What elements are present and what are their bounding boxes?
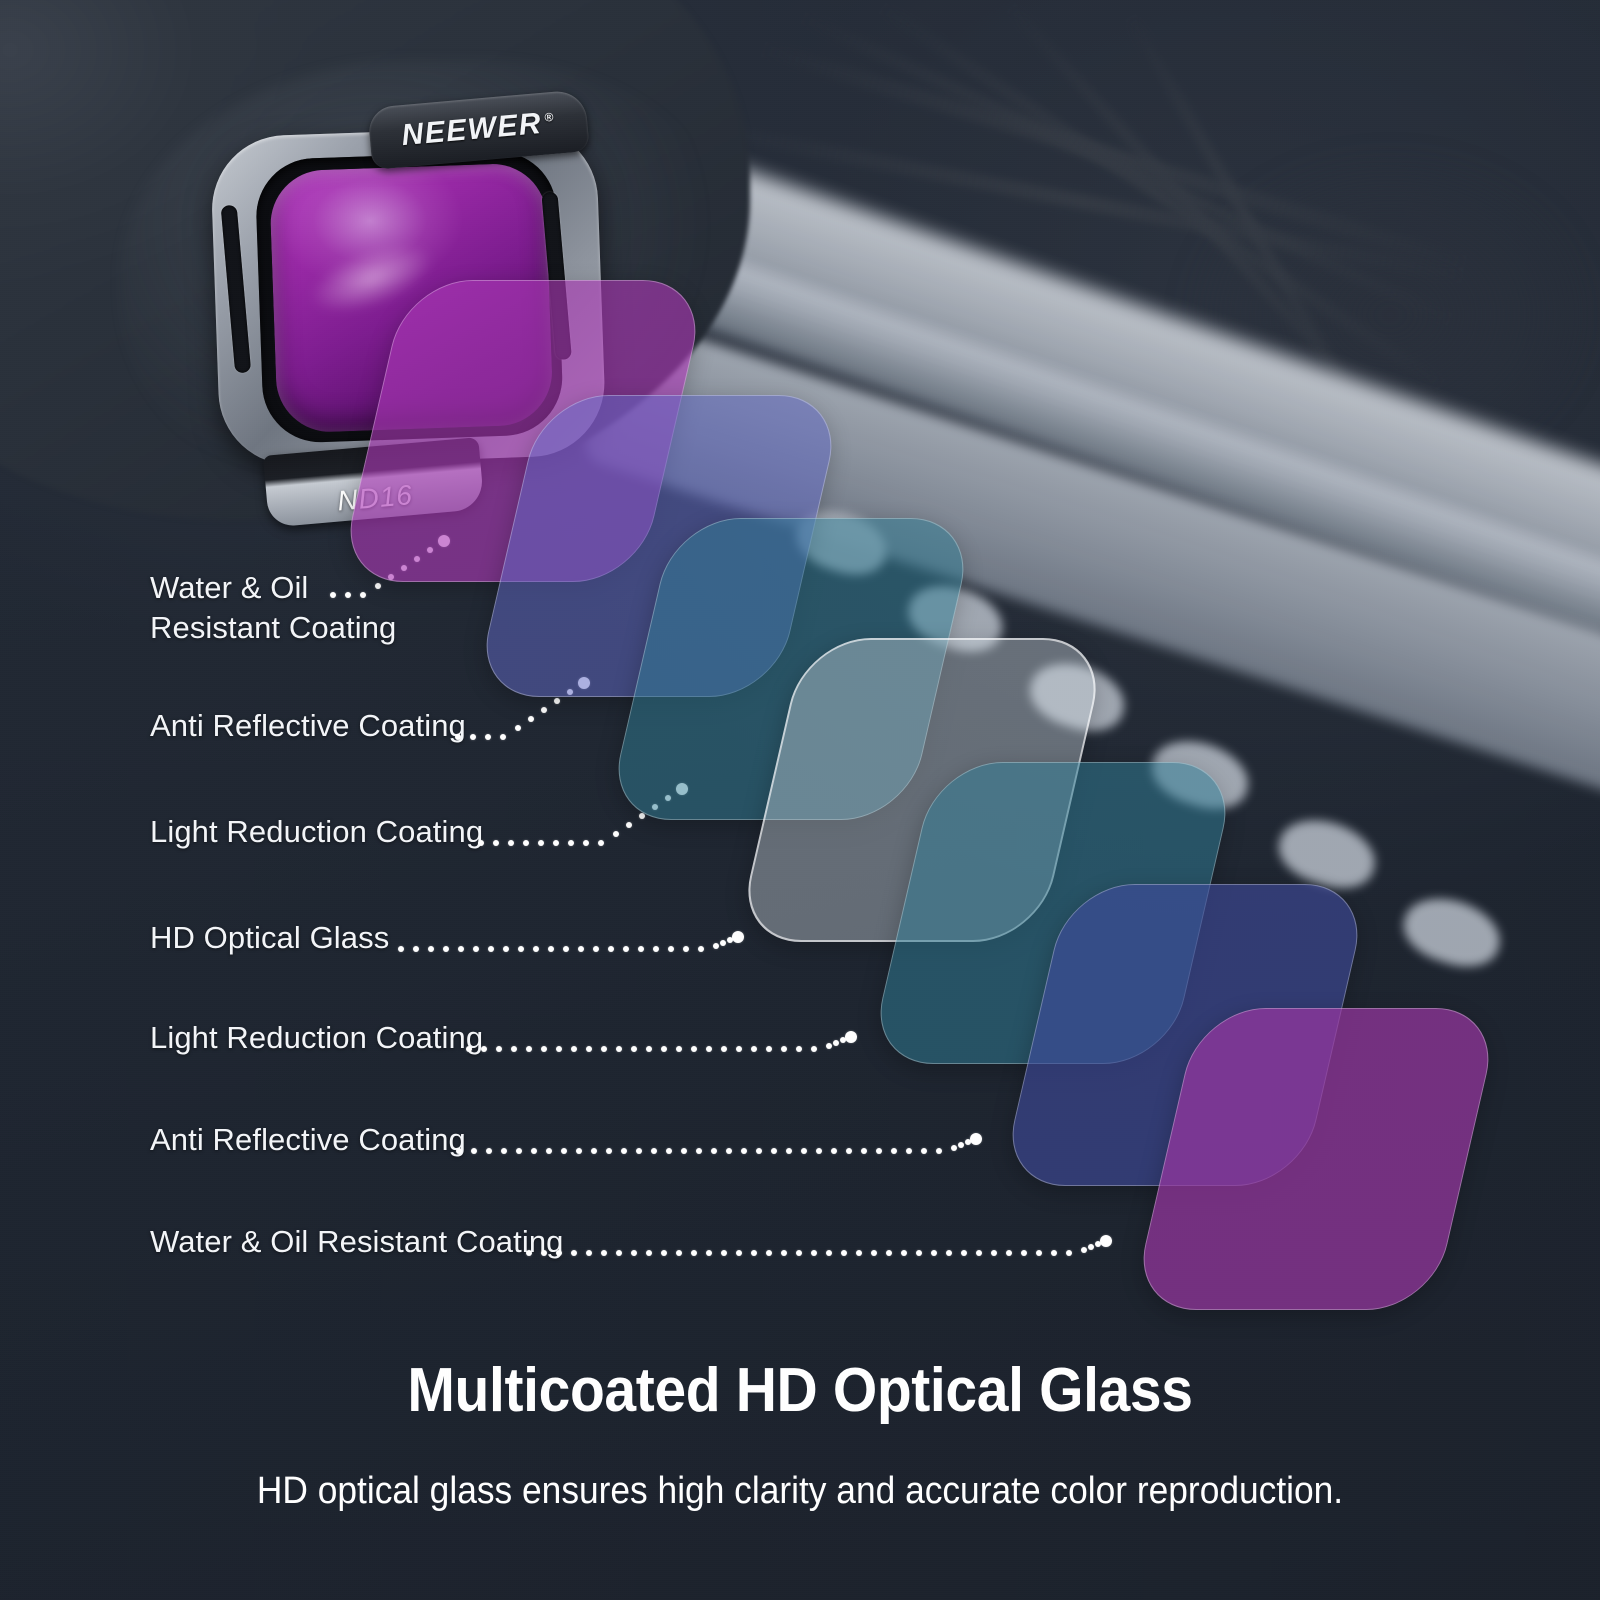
leader-dot bbox=[345, 592, 351, 598]
leader-dot bbox=[781, 1250, 787, 1256]
leader-dot bbox=[591, 1148, 597, 1154]
leader-dot bbox=[901, 1250, 907, 1256]
leader-dot bbox=[568, 840, 574, 846]
leader-dot bbox=[455, 734, 461, 740]
leader-dot bbox=[661, 1250, 667, 1256]
leader-dot bbox=[721, 1250, 727, 1256]
leader-dot bbox=[613, 831, 619, 837]
leader-dot bbox=[528, 716, 534, 722]
leader-dot bbox=[736, 1250, 742, 1256]
leader-dot bbox=[713, 943, 719, 949]
leader-dot bbox=[375, 583, 381, 589]
leader-dot bbox=[676, 1250, 682, 1256]
leader-dot bbox=[698, 946, 704, 952]
coating-label: Light Reduction Coating bbox=[150, 812, 483, 852]
leader-endpoint-dot bbox=[1100, 1235, 1112, 1247]
leader-line bbox=[330, 582, 442, 592]
leader-dot bbox=[786, 1148, 792, 1154]
leader-dot bbox=[653, 946, 659, 952]
leader-dot bbox=[766, 1250, 772, 1256]
leader-dot bbox=[976, 1250, 982, 1256]
leader-dot bbox=[496, 1046, 502, 1052]
leader-dot bbox=[668, 946, 674, 952]
leader-line bbox=[466, 1036, 888, 1046]
leader-dot bbox=[936, 1148, 942, 1154]
leader-dot bbox=[876, 1148, 882, 1154]
leader-dot bbox=[470, 734, 476, 740]
leader-dot bbox=[961, 1250, 967, 1256]
leader-endpoint-dot bbox=[845, 1031, 857, 1043]
leader-dot bbox=[1081, 1247, 1087, 1253]
leader-dot bbox=[541, 707, 547, 713]
leader-dot bbox=[816, 1148, 822, 1154]
leader-dot bbox=[556, 1046, 562, 1052]
page-subtitle: HD optical glass ensures high clarity an… bbox=[56, 1470, 1544, 1513]
leader-dot bbox=[683, 946, 689, 952]
leader-dot bbox=[1036, 1250, 1042, 1256]
leader-dot bbox=[1088, 1244, 1094, 1250]
leader-dot bbox=[651, 1148, 657, 1154]
leader-dot bbox=[516, 1148, 522, 1154]
coating-label: Water & Oil Resistant Coating bbox=[150, 568, 396, 649]
leader-dot bbox=[511, 1046, 517, 1052]
leader-dot bbox=[541, 1046, 547, 1052]
leader-dot bbox=[646, 1046, 652, 1052]
leader-line bbox=[398, 936, 776, 946]
leader-dot bbox=[833, 1040, 839, 1046]
leader-dot bbox=[471, 1148, 477, 1154]
leader-dot bbox=[493, 840, 499, 846]
leader-dot bbox=[583, 840, 589, 846]
leader-dot bbox=[666, 1148, 672, 1154]
leader-dot bbox=[931, 1250, 937, 1256]
leader-dot bbox=[623, 946, 629, 952]
leader-dot bbox=[891, 1148, 897, 1154]
leader-dot bbox=[571, 1046, 577, 1052]
leader-dot bbox=[751, 1046, 757, 1052]
leader-dot bbox=[756, 1148, 762, 1154]
leader-dot bbox=[501, 1148, 507, 1154]
leader-dot bbox=[991, 1250, 997, 1256]
coating-label: Anti Reflective Coating bbox=[150, 706, 466, 746]
leader-dot bbox=[856, 1250, 862, 1256]
leader-dot bbox=[616, 1250, 622, 1256]
leader-dot bbox=[631, 1250, 637, 1256]
leader-dot bbox=[360, 592, 366, 598]
leader-dot bbox=[508, 840, 514, 846]
leader-dot bbox=[546, 1148, 552, 1154]
leader-dot bbox=[500, 734, 506, 740]
leader-dot bbox=[330, 592, 336, 598]
leader-dot bbox=[721, 1046, 727, 1052]
leader-dot bbox=[413, 946, 419, 952]
leader-dot bbox=[466, 1046, 472, 1052]
leader-dot bbox=[861, 1148, 867, 1154]
leader-dot bbox=[831, 1148, 837, 1154]
leader-dot bbox=[638, 946, 644, 952]
leader-dot bbox=[526, 1046, 532, 1052]
leader-dot bbox=[398, 946, 404, 952]
leader-dot bbox=[646, 1250, 652, 1256]
leader-dot bbox=[681, 1148, 687, 1154]
leader-dot bbox=[481, 1046, 487, 1052]
leader-dot bbox=[515, 725, 521, 731]
leader-line bbox=[526, 1240, 1138, 1250]
leader-dot bbox=[886, 1250, 892, 1256]
leader-dot bbox=[711, 1148, 717, 1154]
leader-dot bbox=[636, 1148, 642, 1154]
leader-endpoint-dot bbox=[970, 1133, 982, 1145]
page-title: Multicoated HD Optical Glass bbox=[64, 1355, 1536, 1426]
leader-dot bbox=[593, 946, 599, 952]
leader-dot bbox=[523, 840, 529, 846]
leader-dot bbox=[1051, 1250, 1057, 1256]
leader-line bbox=[455, 724, 570, 734]
infographic-canvas: NEEWER® ND16 Water & Oil Resistant Coati… bbox=[0, 0, 1600, 1600]
leader-dot bbox=[538, 840, 544, 846]
leader-dot bbox=[691, 1046, 697, 1052]
leader-dot bbox=[533, 946, 539, 952]
leader-dot bbox=[478, 840, 484, 846]
leader-dot bbox=[586, 1250, 592, 1256]
coating-label: Anti Reflective Coating bbox=[150, 1120, 466, 1160]
leader-dot bbox=[741, 1148, 747, 1154]
leader-dot bbox=[488, 946, 494, 952]
leader-dot bbox=[720, 940, 726, 946]
leader-line bbox=[478, 830, 673, 840]
leader-dot bbox=[796, 1046, 802, 1052]
leader-dot bbox=[531, 1148, 537, 1154]
leader-dot bbox=[485, 734, 491, 740]
leader-dot bbox=[601, 1250, 607, 1256]
leader-dot bbox=[846, 1148, 852, 1154]
leader-dot bbox=[706, 1250, 712, 1256]
leader-dot bbox=[621, 1148, 627, 1154]
leader-dot bbox=[631, 1046, 637, 1052]
leader-dot bbox=[556, 1250, 562, 1256]
leader-dot bbox=[576, 1148, 582, 1154]
leader-dot bbox=[571, 1250, 577, 1256]
leader-dot bbox=[598, 840, 604, 846]
leader-dot bbox=[1006, 1250, 1012, 1256]
leader-dot bbox=[443, 946, 449, 952]
leader-dot bbox=[578, 946, 584, 952]
leader-dot bbox=[751, 1250, 757, 1256]
leader-endpoint-dot bbox=[732, 931, 744, 943]
coating-label: HD Optical Glass bbox=[150, 918, 389, 958]
leader-dot bbox=[801, 1148, 807, 1154]
coating-label: Light Reduction Coating bbox=[150, 1018, 483, 1058]
leader-dot bbox=[946, 1250, 952, 1256]
leader-dot bbox=[473, 946, 479, 952]
leader-dot bbox=[553, 840, 559, 846]
leader-dot bbox=[554, 698, 560, 704]
leader-dot bbox=[871, 1250, 877, 1256]
leader-dot bbox=[606, 1148, 612, 1154]
leader-dot bbox=[428, 946, 434, 952]
leader-dot bbox=[626, 822, 632, 828]
leader-dot bbox=[548, 946, 554, 952]
leader-dot bbox=[661, 1046, 667, 1052]
leader-dot bbox=[691, 1250, 697, 1256]
leader-dot bbox=[563, 946, 569, 952]
leader-dot bbox=[958, 1142, 964, 1148]
leader-dot bbox=[561, 1148, 567, 1154]
leader-dot bbox=[951, 1145, 957, 1151]
leader-dot bbox=[676, 1046, 682, 1052]
leader-dot bbox=[1066, 1250, 1072, 1256]
leader-dot bbox=[706, 1046, 712, 1052]
leader-dot bbox=[736, 1046, 742, 1052]
leader-dot bbox=[916, 1250, 922, 1256]
leader-dot bbox=[456, 1148, 462, 1154]
leader-dot bbox=[586, 1046, 592, 1052]
leader-dot bbox=[526, 1250, 532, 1256]
leader-dot bbox=[601, 1046, 607, 1052]
leader-dot bbox=[486, 1148, 492, 1154]
leader-dot bbox=[518, 946, 524, 952]
leader-dot bbox=[811, 1250, 817, 1256]
leader-dot bbox=[811, 1046, 817, 1052]
leader-dot bbox=[796, 1250, 802, 1256]
coating-label: Water & Oil Resistant Coating bbox=[150, 1222, 564, 1262]
leader-dot bbox=[826, 1043, 832, 1049]
leader-dot bbox=[458, 946, 464, 952]
leader-dot bbox=[921, 1148, 927, 1154]
leader-dot bbox=[608, 946, 614, 952]
leader-dot bbox=[616, 1046, 622, 1052]
leader-dot bbox=[781, 1046, 787, 1052]
leader-dot bbox=[826, 1250, 832, 1256]
leader-dot bbox=[503, 946, 509, 952]
leader-dot bbox=[906, 1148, 912, 1154]
leader-dot bbox=[766, 1046, 772, 1052]
leader-line bbox=[456, 1138, 1008, 1148]
leader-dot bbox=[1021, 1250, 1027, 1256]
leader-dot bbox=[726, 1148, 732, 1154]
leader-dot bbox=[841, 1250, 847, 1256]
leader-dot bbox=[771, 1148, 777, 1154]
leader-dot bbox=[696, 1148, 702, 1154]
leader-dot bbox=[541, 1250, 547, 1256]
